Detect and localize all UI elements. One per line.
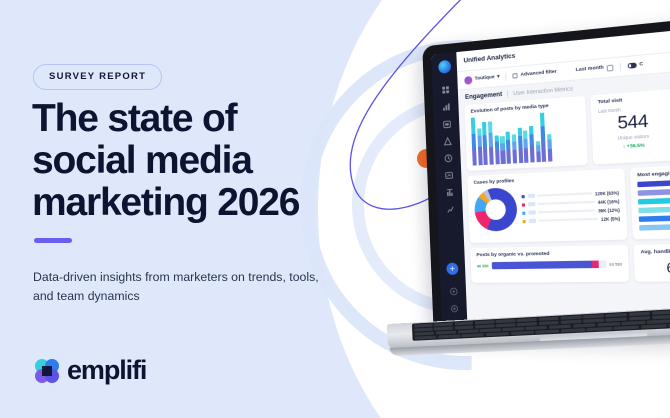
compare-toggle[interactable]: C [627,62,643,69]
bar-segment [472,134,477,148]
bar-segment [500,143,504,151]
card-organic-vs-promoted: Posts by organic vs. promoted 46 350 63 … [470,245,629,283]
tab-user-interaction-metrics[interactable]: User Interaction Metrics [513,86,573,97]
bar-segment [541,126,546,141]
bar-segment [517,128,522,137]
bar-segment [506,149,511,164]
profile-name: Toutique [475,75,495,82]
ranking-bar [639,214,670,222]
bar-segment [536,145,541,152]
card-avg-handling-time: Avg. handling time 6h 47m [633,243,670,282]
advanced-filter-label: Advanced filter [520,70,556,78]
sidebar-logo-icon [438,60,451,74]
logo-word: emplifi [67,355,146,385]
legend-value: 44K (16%) [598,198,620,204]
emplifi-logo: emplifi [33,355,146,386]
dashboard-content: Unified Analytics ⋯ Toutique ▾ Advanced … [456,24,670,341]
donut-chart [474,187,518,232]
donut-legend: 120K (63%)44K (16%)36K (12%)12K (5%) [521,190,620,224]
bar-segment [524,148,529,163]
keyboard-key [535,329,559,333]
bar-segment [518,137,523,148]
compare-label: C [639,62,643,68]
app-title: Unified Analytics [463,53,515,65]
ranking-bar [638,188,670,196]
card-title: Posts by organic vs. promoted [476,250,621,258]
keyboard-key [587,327,612,331]
bar-segment [523,138,528,148]
bar-segment [489,147,494,165]
handling-time-value: 6h 47m [641,258,670,276]
ranking-row [638,186,670,195]
gear-icon[interactable] [449,304,458,313]
add-button[interactable]: + [446,263,458,275]
bar-segment [529,135,534,146]
kpi-delta: ↑ +36.5% [599,141,668,150]
bar-segment [518,147,523,163]
sidebar-item-audience[interactable] [443,136,452,146]
sidebar-spacer [451,222,452,254]
legend-row: 36K (12%) [522,207,620,216]
ranking-row [637,177,670,187]
bar-segment [530,145,535,162]
bar-segment [495,141,499,150]
bar-column [494,136,499,165]
bar-column [500,137,505,165]
bar-column [477,129,483,166]
profile-selector[interactable]: Toutique ▾ [464,73,500,84]
sidebar-item-calendar[interactable] [442,119,451,129]
cover-text-panel: SURVEY REPORT The state of social media … [0,0,340,418]
promoted-segment [591,261,598,269]
bar-segment [501,150,506,164]
stacked-bar-chart [471,110,582,166]
ranking-bars [637,177,670,230]
legend-value: 120K (63%) [595,190,619,196]
emplifi-wordmark: emplifi [67,355,146,386]
date-range-label: Last month [576,65,604,73]
title-divider [34,238,72,243]
bar-segment [512,150,517,164]
ranking-row [639,213,670,222]
bar-segment [483,136,488,149]
legend-swatch [522,203,525,206]
legend-tag [528,219,535,223]
report-cover: SURVEY REPORT The state of social media … [0,0,670,418]
tab-divider [507,90,508,97]
promoted-value: 63 589 [609,262,622,266]
donut-chart-wrap: 120K (63%)44K (16%)36K (12%)12K (5%) [474,183,621,232]
card-title: Avg. handling time [640,248,670,255]
ranking-bar [639,205,670,213]
card-most-engaging: Most engagi [630,162,670,239]
card-title: Most engagi [637,168,670,178]
filter-icon [513,73,518,79]
keyboard-key [510,331,534,335]
bar-segment [548,149,553,162]
cards-grid: Evolution of posts by media type Total v… [458,83,670,341]
tab-engagement[interactable]: Engagement [465,91,502,101]
bar-column [540,113,546,162]
bar-segment [536,151,541,162]
laptop-base [387,304,670,382]
progress-track [491,260,606,269]
legend-row: 12K (5%) [522,215,620,223]
bar-column [488,122,494,165]
keyboard-key [613,325,639,330]
toggle-icon [627,63,636,69]
legend-row: 44K (16%) [522,198,620,207]
help-icon[interactable] [449,287,458,296]
chevron-down-icon: ▾ [497,75,500,80]
survey-report-badge: SURVEY REPORT [33,64,162,90]
page-subtitle: Data-driven insights from marketers on t… [33,268,323,306]
bar-segment [547,139,552,149]
bar-segment [471,118,476,135]
filter-divider [505,72,506,80]
card-total-visit: Total visit Last month 544 Unique visito… [591,89,670,165]
bar-column [506,132,511,164]
bar-column [471,118,477,166]
bar-segment [482,122,487,136]
date-range-selector[interactable]: Last month [576,64,614,74]
sidebar-item-analytics[interactable] [441,102,450,112]
ranking-row [639,222,670,230]
sidebar-item-insights[interactable] [445,205,454,214]
legend-tag [527,194,534,198]
card-evolution-of-posts: Evolution of posts by media type [464,96,588,171]
progress-bar-wrap: 46 350 63 589 [477,260,622,269]
keyboard-key [438,334,460,338]
bar-column [512,135,517,164]
bar-segment [540,113,545,127]
profile-avatar-icon [464,75,472,84]
legend-tag [527,202,534,206]
sidebar-item-reports[interactable] [444,171,453,180]
bar-column [523,131,529,163]
ranking-row [639,204,670,213]
legend-track [537,201,595,205]
cards-row-middle: Cases by profiles 120K (63%)44K (16%)36K… [467,162,670,243]
bar-segment [488,122,493,134]
bar-segment [541,141,546,162]
legend-swatch [522,195,525,198]
ranking-row [638,195,670,204]
page-title: The state of social media marketing 2026 [32,98,332,224]
bar-segment [495,149,500,164]
laptop-screen-lid: + Unified Analytics ⋯ [422,14,670,341]
legend-value: 36K (12%) [598,207,620,213]
legend-value: 12K (5%) [601,215,620,221]
calendar-icon [606,64,613,71]
legend-row: 120K (63%) [521,190,619,199]
card-cases-by-profiles: Cases by profiles 120K (63%)44K (16%)36K… [467,168,627,243]
bar-segment [506,139,511,149]
legend-tag [528,210,535,214]
keyboard-key [641,324,667,329]
ranking-bar [638,196,670,205]
bar-segment [483,148,488,165]
legend-swatch [523,219,526,222]
legend-track [537,192,592,197]
bar-segment [529,126,534,135]
ranking-bar [637,177,670,187]
emplifi-mark-icon [33,357,60,384]
bar-column [535,141,540,163]
legend-track [538,209,596,213]
bar-column [547,135,552,162]
keyboard-key [461,333,484,337]
keyboard-key [486,332,509,336]
sidebar-item-content[interactable] [445,188,454,197]
sidebar-item-dashboard[interactable] [441,85,450,95]
bar-column [517,128,523,163]
bar-segment [512,141,517,150]
sidebar-item-clock[interactable] [443,154,452,164]
bar-segment [478,146,483,165]
bar-segment [488,133,493,147]
laptop-mockup: + Unified Analytics ⋯ [380,28,670,358]
organic-segment [491,261,591,270]
legend-swatch [522,211,525,214]
bar-column [529,126,535,162]
cards-row-bottom: Posts by organic vs. promoted 46 350 63 … [470,243,670,283]
bar-segment [472,148,477,166]
keyboard-key [561,328,586,332]
legend-track [538,218,598,222]
organic-value: 46 350 [477,264,489,268]
bar-segment [477,136,482,147]
advanced-filter-button[interactable]: Advanced filter [513,70,557,79]
ranking-bar [639,223,670,231]
keyboard-key [414,336,436,340]
filter-divider-2 [620,62,621,71]
dashboard-screen: + Unified Analytics ⋯ [431,24,670,341]
